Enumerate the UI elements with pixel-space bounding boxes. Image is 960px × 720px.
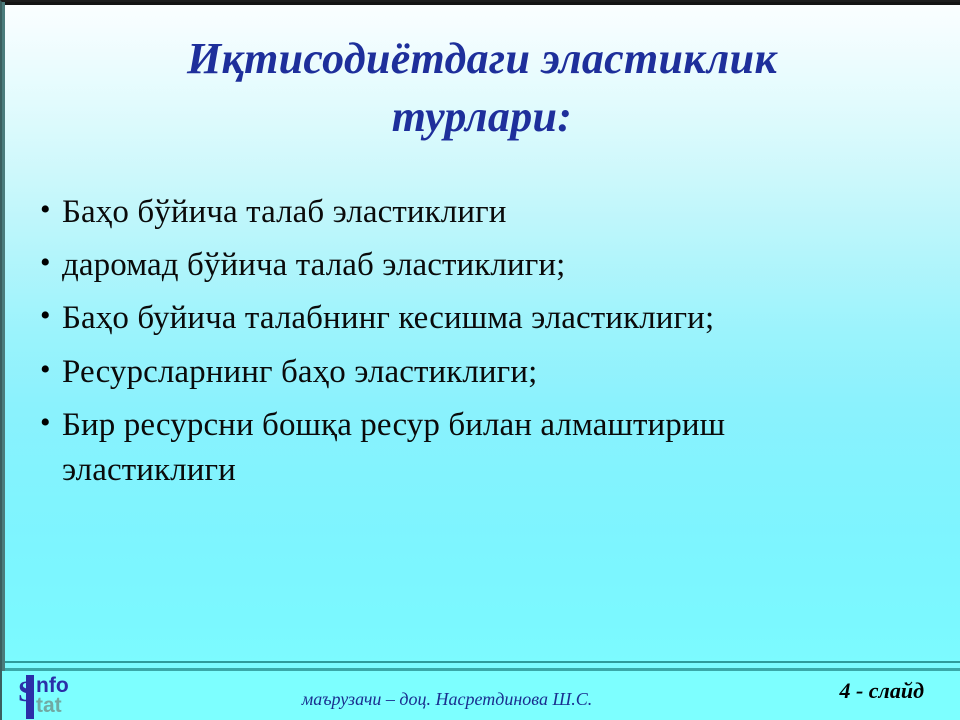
infostat-logo: S nfo tat [10, 673, 106, 720]
bullet-marker-icon: • [32, 348, 62, 392]
logo-info-text: nfo [36, 675, 69, 696]
slide-number-label: 4 - слайд [839, 679, 924, 703]
list-item-text: Ресурсларнинг баҳо эластиклиги; [62, 348, 762, 395]
list-item-text: Баҳо буйича талабнинг кесишма эластиклиг… [62, 294, 762, 341]
list-item-text: Баҳо бўйича талаб эластиклиги [62, 188, 762, 235]
presentation-slide: Иқтисодиётдаги эластиклик турлари: • Баҳ… [0, 0, 960, 720]
logo-stat-text: tat [36, 695, 62, 716]
slide-top-border [2, 2, 960, 5]
list-item: • Баҳо бўйича талаб эластиклиги [32, 188, 932, 235]
bullet-marker-icon: • [32, 294, 62, 338]
slide-left-border [2, 2, 5, 674]
logo-s-glyph: S [18, 677, 35, 707]
bullet-marker-icon: • [32, 241, 62, 285]
list-item: • даромад бўйича талаб эластиклиги; [32, 241, 932, 288]
bullet-list: • Баҳо бўйича талаб эластиклиги • дарома… [32, 188, 932, 499]
bullet-marker-icon: • [32, 401, 62, 445]
slide-title: Иқтисодиётдаги эластиклик турлари: [62, 30, 902, 146]
list-item: • Баҳо буйича талабнинг кесишма эластикл… [32, 294, 932, 341]
presenter-credit: маърузачи – доц. Насретдинова Ш.С. [232, 690, 662, 710]
list-item-text: Бир ресурсни бошқа ресур билан алмаштири… [62, 401, 762, 493]
footer-divider [5, 661, 960, 663]
list-item-text: даромад бўйича талаб эластиклиги; [62, 241, 762, 288]
list-item: • Бир ресурсни бошқа ресур билан алмашти… [32, 401, 932, 493]
list-item: • Ресурсларнинг баҳо эластиклиги; [32, 348, 932, 395]
bullet-marker-icon: • [32, 188, 62, 232]
